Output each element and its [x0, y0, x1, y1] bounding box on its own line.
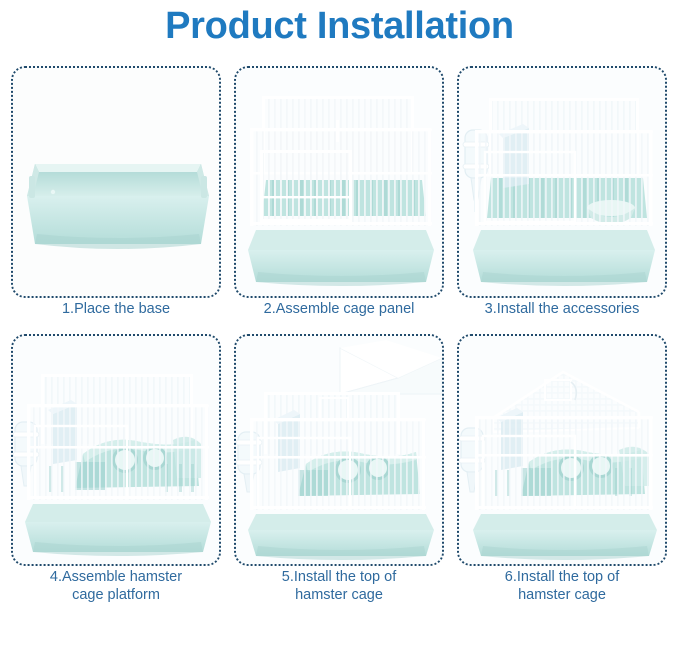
step-cell-6: 6.Install the top of hamster cage: [457, 334, 667, 566]
step-caption-2: 2.Assemble cage panel: [222, 300, 456, 318]
small-wire-panel: [260, 150, 352, 222]
step-cell-3: 3.Install the accessories: [457, 66, 667, 298]
base-tray: [473, 514, 657, 560]
step-image-6: [457, 334, 667, 566]
base-tray: [248, 230, 434, 286]
step-image-5: [234, 334, 444, 566]
accessories-illustration: [463, 98, 655, 286]
base-tray-illustration: [27, 164, 209, 249]
steps-grid: 1.Place the base: [11, 66, 668, 612]
step-cell-1: 1.Place the base: [11, 66, 221, 298]
front-wire-panel: [27, 404, 209, 500]
base-tray: [473, 230, 655, 286]
platform-illustration: [13, 374, 211, 556]
step-image-3: [457, 66, 667, 298]
base-tray: [248, 514, 434, 560]
front-wire-panel: [475, 416, 653, 510]
step-caption-6: 6.Install the top of hamster cage: [445, 568, 679, 604]
front-wire-panel: [475, 130, 653, 226]
step-cell-2: 2.Assemble cage panel: [234, 66, 444, 298]
step-caption-5: 5.Install the top of hamster cage: [222, 568, 456, 604]
base-tray: [25, 504, 211, 556]
step-caption-3: 3.Install the accessories: [445, 300, 679, 318]
step-caption-1: 1.Place the base: [0, 300, 233, 318]
step-caption-4: 4.Assemble hamster cage platform: [0, 568, 233, 604]
cage-panel-illustration: [248, 96, 434, 286]
step-image-1: [11, 66, 221, 298]
step-cell-4: 4.Assemble hamster cage platform: [11, 334, 221, 566]
step-image-2: [234, 66, 444, 298]
step-image-4: [11, 334, 221, 566]
front-wire-panel: [250, 418, 426, 510]
page-title: Product Installation: [0, 0, 679, 52]
step-cell-5: 5.Install the top of hamster cage: [234, 334, 444, 566]
